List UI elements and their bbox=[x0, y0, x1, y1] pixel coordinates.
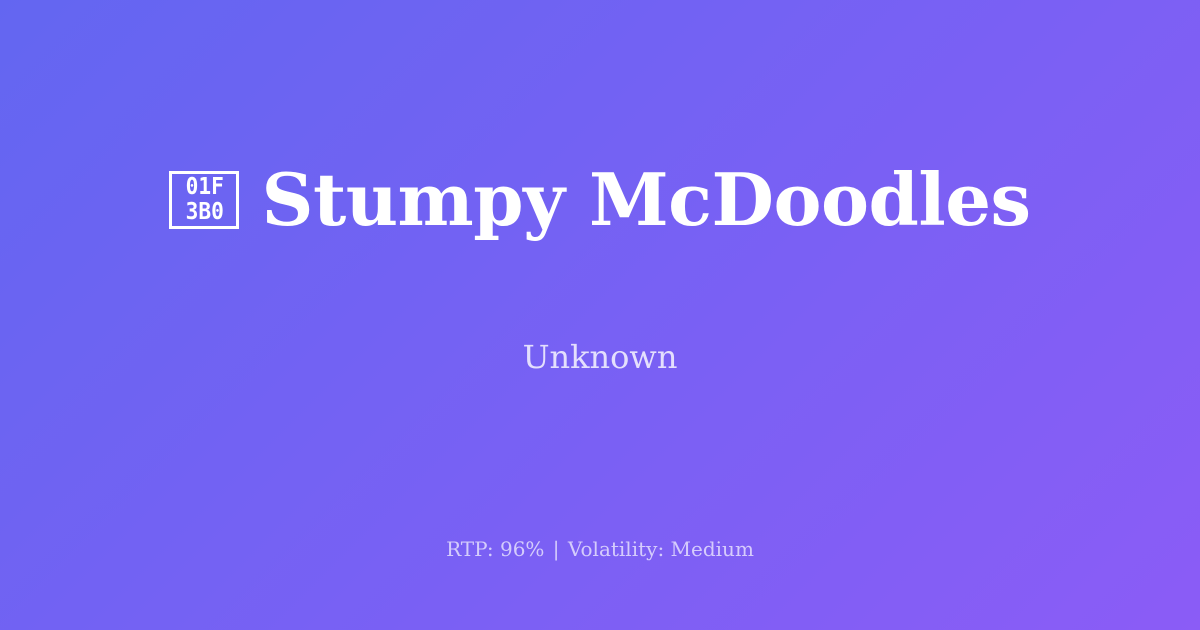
game-meta-line: RTP: 96% | Volatility: Medium bbox=[0, 536, 1200, 562]
rtp-value: 96% bbox=[500, 537, 544, 561]
meta-separator: | bbox=[551, 537, 562, 561]
game-title: Stumpy McDoodles bbox=[261, 162, 1030, 238]
title-row: 01F 3B0 Stumpy McDoodles bbox=[0, 114, 1200, 286]
slot-machine-icon-hex-bottom: 3B0 bbox=[185, 200, 223, 225]
slot-machine-icon-hex-top: 01F bbox=[185, 175, 223, 200]
game-provider: Unknown bbox=[523, 338, 678, 376]
slot-machine-icon: 01F 3B0 bbox=[169, 171, 239, 229]
game-og-card: 01F 3B0 Stumpy McDoodles Unknown RTP: 96… bbox=[0, 0, 1200, 630]
card-center-block: 01F 3B0 Stumpy McDoodles Unknown bbox=[0, 0, 1200, 490]
volatility-value: Medium bbox=[671, 537, 754, 561]
rtp-label: RTP: bbox=[446, 537, 494, 561]
volatility-label: Volatility: bbox=[568, 537, 664, 561]
